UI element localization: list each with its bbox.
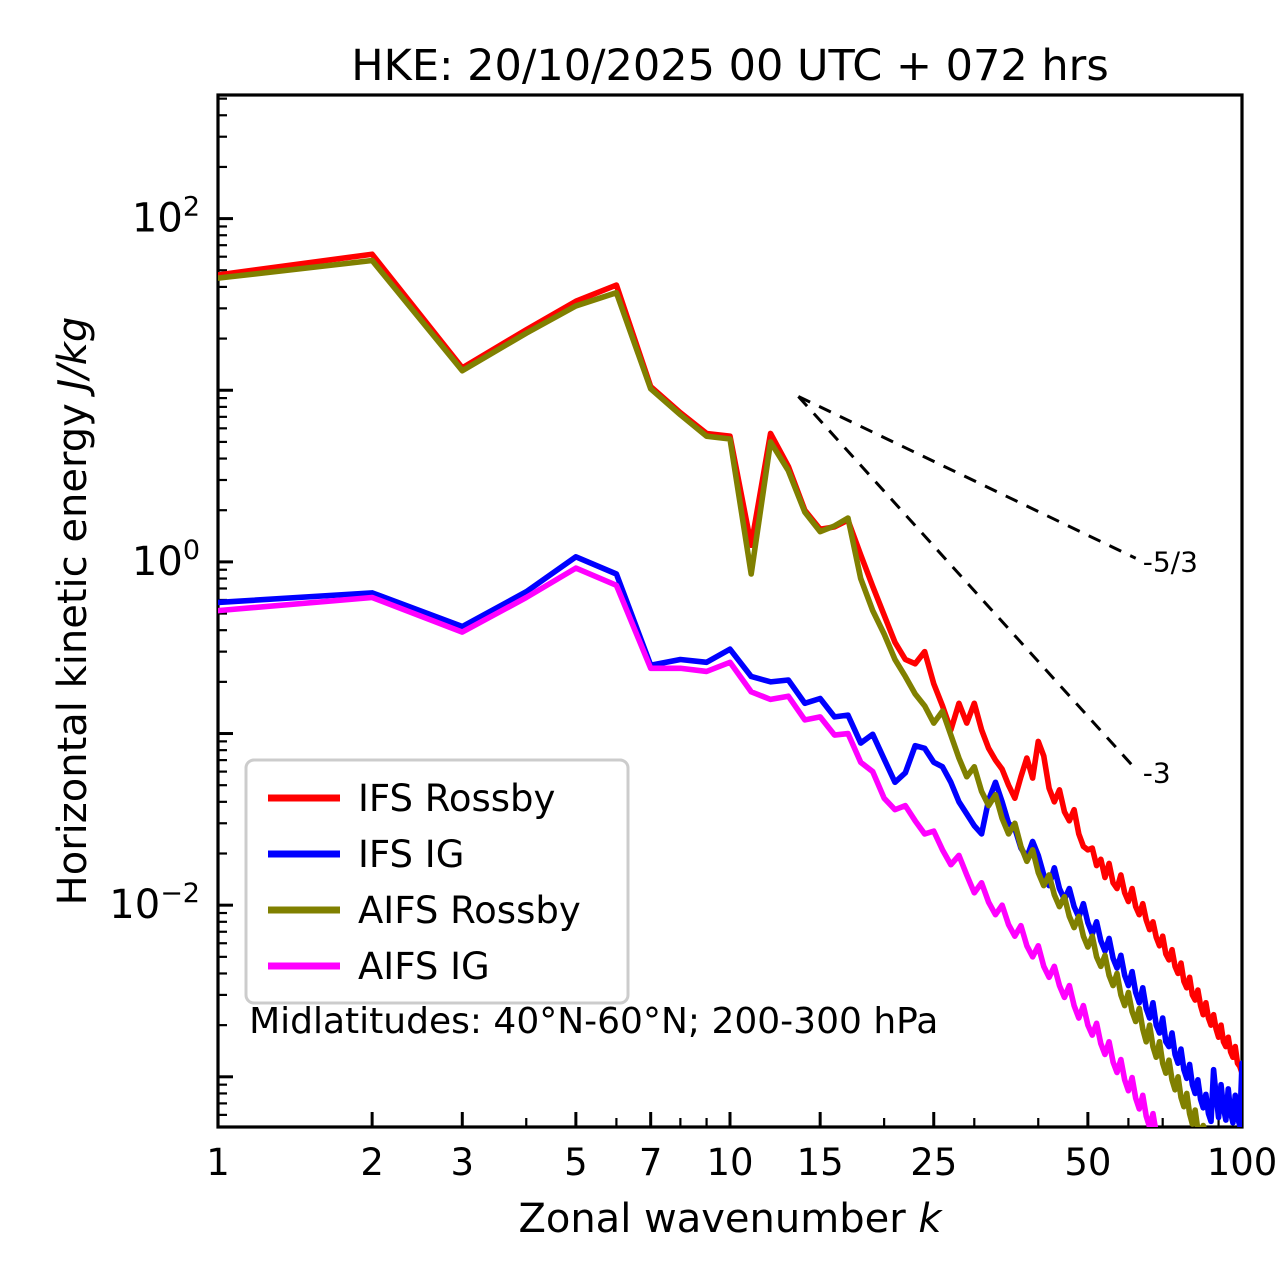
x-tick-label: 7 [639,1141,663,1184]
x-tick-label: 10 [706,1141,753,1184]
chart-svg: HKE: 20/10/2025 00 UTC + 072 hrs12357101… [0,0,1280,1288]
y-tick-label: 102 [132,192,200,242]
region-annotation: Midlatitudes: 40°N-60°N; 200-300 hPa [249,1001,938,1042]
legend-label-aifs_ig: AIFS IG [358,945,490,988]
figure-root: HKE: 20/10/2025 00 UTC + 072 hrs12357101… [0,0,1280,1288]
x-tick-label: 25 [910,1141,957,1184]
chart-title: HKE: 20/10/2025 00 UTC + 072 hrs [351,41,1108,91]
y-tick-label: 10−2 [109,878,200,928]
x-tick-label: 1 [206,1141,230,1184]
slope-label-3: -3 [1143,756,1171,789]
legend-label-aifs_rossby: AIFS Rossby [358,889,581,932]
legend-label-ifs_rossby: IFS Rossby [358,777,555,820]
slope-label-5-3: -5/3 [1143,545,1198,578]
x-tick-label: 15 [797,1141,844,1184]
x-tick-label: 50 [1064,1141,1111,1184]
y-axis-label: Horizontal kinetic energy J/kg [50,317,96,906]
legend-label-ifs_ig: IFS IG [358,833,464,876]
x-tick-label: 2 [360,1141,384,1184]
x-tick-label: 5 [564,1141,588,1184]
x-tick-label: 100 [1207,1141,1278,1184]
x-tick-label: 3 [451,1141,475,1184]
y-tick-label: 100 [132,535,200,585]
x-axis-label: Zonal wavenumber k [518,1196,943,1242]
